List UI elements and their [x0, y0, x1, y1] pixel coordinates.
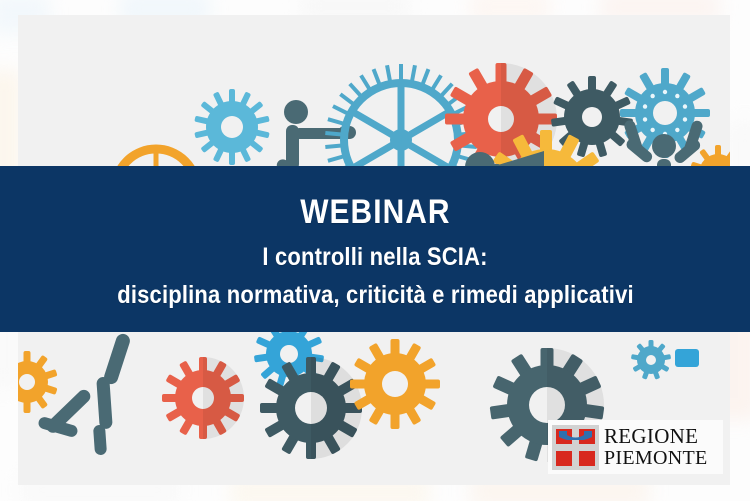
promo-banner-image: WEBINAR I controlli nella SCIA: discipli… — [0, 0, 750, 501]
logo-line1: REGIONE — [604, 426, 708, 447]
logo-line2: PIEMONTE — [604, 448, 708, 469]
banner-subtitle-line2: disciplina normativa, criticità e rimedi… — [117, 279, 634, 311]
gear-coral-lower — [157, 352, 249, 444]
banner-title: WEBINAR — [300, 192, 450, 232]
regione-piemonte-cross-emblem — [552, 425, 599, 470]
gear-skyblue-flat-right — [673, 343, 713, 373]
webinar-banner: WEBINAR I controlli nella SCIA: discipli… — [0, 166, 750, 332]
emblem-blue-arc-icon — [559, 431, 592, 440]
gear-amber-edge-lower-left — [18, 347, 62, 417]
gear-amber-lower — [344, 333, 446, 435]
gear-skyblue-small-upper-left — [188, 83, 276, 171]
gear-skyblue-lower-right — [628, 337, 674, 383]
regione-piemonte-logo: REGIONE PIEMONTE — [548, 420, 723, 474]
banner-subtitle-line1: I controlli nella SCIA: — [262, 241, 487, 273]
